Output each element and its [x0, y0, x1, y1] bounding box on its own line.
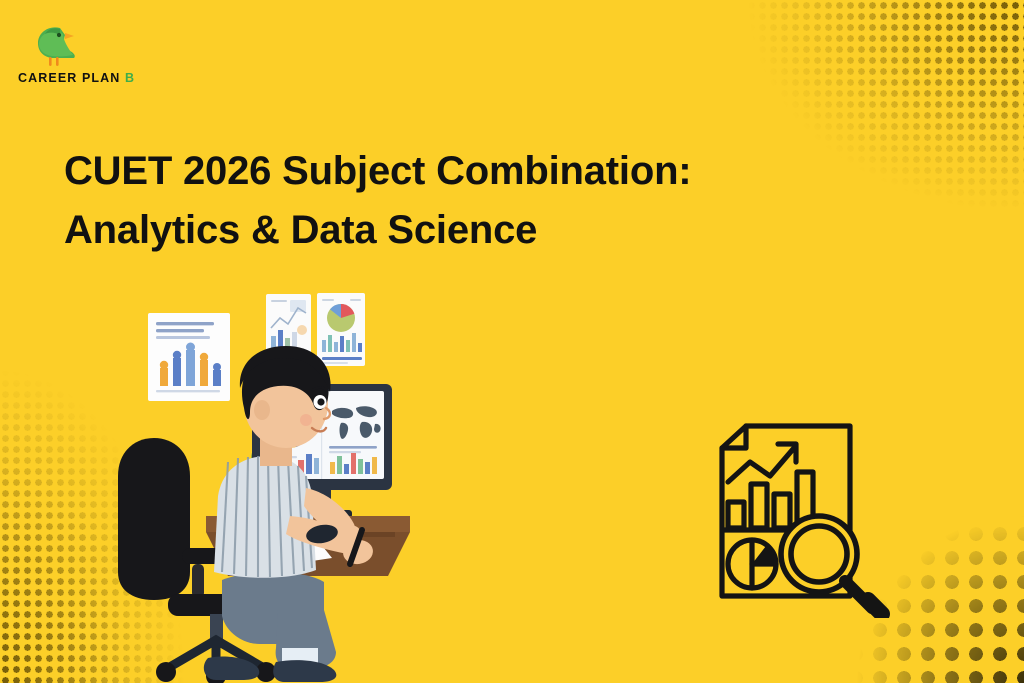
wall-poster-large-bar-chart — [148, 313, 230, 401]
page-title-line-2: Analytics & Data Science — [64, 201, 864, 260]
bar-chart — [728, 502, 744, 528]
brand-logo[interactable]: CAREER PLAN B — [18, 22, 168, 85]
page-title-line-1: CUET 2026 Subject Combination: — [64, 142, 864, 201]
logo-wordmark-accent: B — [125, 71, 135, 85]
logo-wordmark: CAREER PLAN B — [18, 71, 168, 85]
trend-arrow — [728, 448, 794, 482]
magnifying-glass — [781, 516, 882, 614]
logo-wordmark-main: CAREER PLAN — [18, 71, 120, 85]
data-analyst-at-desk-illustration — [110, 280, 440, 683]
page-title: CUET 2026 Subject Combination: Analytics… — [64, 142, 864, 260]
wall-poster-pie-chart — [317, 293, 365, 366]
data-analysis-report-icon — [690, 418, 895, 618]
green-bird-icon — [30, 22, 86, 68]
